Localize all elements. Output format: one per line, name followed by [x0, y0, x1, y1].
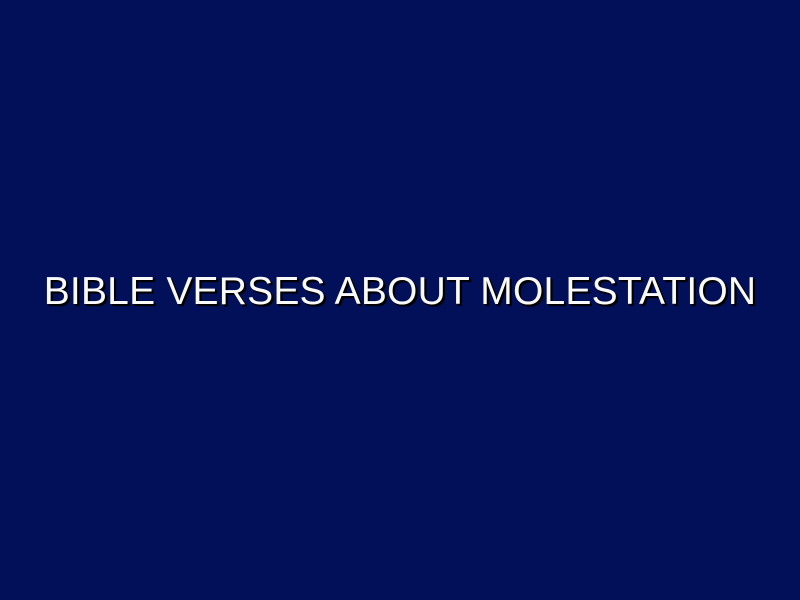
title-block: BIBLE VERSES ABOUT MOLESTATION: [0, 271, 800, 313]
page-title: BIBLE VERSES ABOUT MOLESTATION: [44, 271, 757, 313]
title-card: BIBLE VERSES ABOUT MOLESTATION: [0, 0, 800, 600]
